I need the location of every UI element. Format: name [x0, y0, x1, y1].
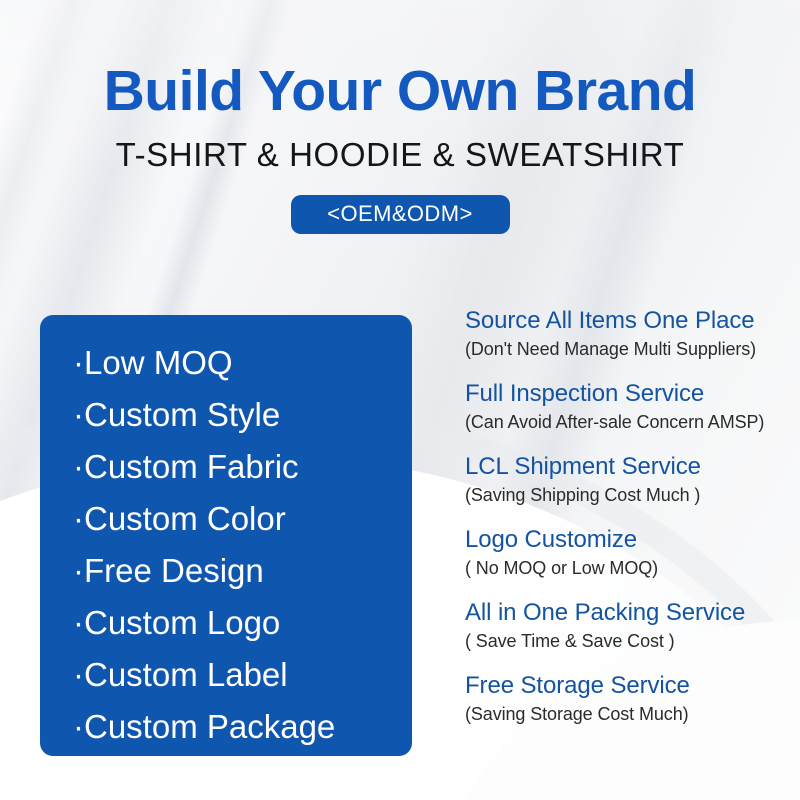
service-title: Full Inspection Service	[465, 379, 785, 409]
header: Build Your Own Brand T-SHIRT & HOODIE & …	[0, 62, 800, 234]
services-column: Source All Items One Place (Don't Need M…	[465, 306, 785, 727]
service-subtitle: ( Save Time & Save Cost )	[465, 629, 785, 654]
service-item: Source All Items One Place (Don't Need M…	[465, 306, 785, 362]
bullet-dot: ·	[73, 708, 84, 745]
capability-label: Custom Color	[84, 500, 286, 537]
capability-label: Free Design	[84, 552, 264, 589]
service-subtitle: ( No MOQ or Low MOQ)	[465, 556, 785, 581]
capability-label: Low MOQ	[84, 344, 233, 381]
list-item: ·Custom Logo	[73, 597, 412, 649]
service-title: Source All Items One Place	[465, 306, 785, 336]
capability-panel: ·Low MOQ ·Custom Style ·Custom Fabric ·C…	[40, 315, 412, 756]
service-title: All in One Packing Service	[465, 598, 785, 628]
service-title: LCL Shipment Service	[465, 452, 785, 482]
service-item: Free Storage Service (Saving Storage Cos…	[465, 671, 785, 727]
bullet-dot: ·	[73, 604, 84, 641]
promo-poster: Build Your Own Brand T-SHIRT & HOODIE & …	[0, 0, 800, 800]
service-subtitle: (Don't Need Manage Multi Suppliers)	[465, 337, 785, 362]
service-title: Free Storage Service	[465, 671, 785, 701]
list-item: ·Low MOQ	[73, 337, 412, 389]
bullet-dot: ·	[73, 396, 84, 433]
oem-odm-badge: <OEM&ODM>	[291, 195, 510, 234]
badge-container: <OEM&ODM>	[0, 195, 800, 234]
bullet-dot: ·	[73, 344, 84, 381]
bullet-dot: ·	[73, 552, 84, 589]
list-item: ·Custom Label	[73, 649, 412, 701]
capability-label: Custom Label	[84, 656, 288, 693]
service-subtitle: (Saving Storage Cost Much)	[465, 702, 785, 727]
list-item: ·Custom Package	[73, 701, 412, 753]
service-item: LCL Shipment Service (Saving Shipping Co…	[465, 452, 785, 508]
service-item: All in One Packing Service ( Save Time &…	[465, 598, 785, 654]
capability-label: Custom Package	[84, 708, 335, 745]
service-item: Logo Customize ( No MOQ or Low MOQ)	[465, 525, 785, 581]
capability-label: Custom Fabric	[84, 448, 299, 485]
capability-list: ·Low MOQ ·Custom Style ·Custom Fabric ·C…	[40, 337, 412, 753]
list-item: ·Custom Fabric	[73, 441, 412, 493]
service-item: Full Inspection Service (Can Avoid After…	[465, 379, 785, 435]
service-subtitle: (Can Avoid After-sale Concern AMSP)	[465, 410, 785, 435]
capability-label: Custom Logo	[84, 604, 280, 641]
service-title: Logo Customize	[465, 525, 785, 555]
bullet-dot: ·	[73, 656, 84, 693]
page-subtitle: T-SHIRT & HOODIE & SWEATSHIRT	[0, 137, 800, 173]
list-item: ·Custom Style	[73, 389, 412, 441]
service-subtitle: (Saving Shipping Cost Much )	[465, 483, 785, 508]
capability-label: Custom Style	[84, 396, 280, 433]
list-item: ·Custom Color	[73, 493, 412, 545]
bullet-dot: ·	[73, 448, 84, 485]
list-item: ·Free Design	[73, 545, 412, 597]
page-title: Build Your Own Brand	[0, 62, 800, 121]
bullet-dot: ·	[73, 500, 84, 537]
